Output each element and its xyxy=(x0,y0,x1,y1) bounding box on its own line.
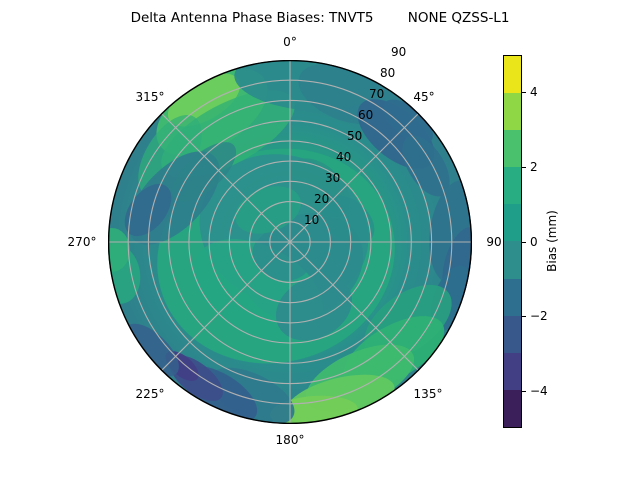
colorbar-tick-2 xyxy=(522,167,526,168)
radial-label-80: 80 xyxy=(380,66,395,80)
figure-canvas: Delta Antenna Phase Biases: TNVT5 NONE Q… xyxy=(0,0,640,480)
polar-skyplot-axes[interactable]: 0° 45° 90 135° 180° 225° 270° 315° 10 20… xyxy=(108,60,472,424)
radial-label-60: 60 xyxy=(358,108,373,122)
radial-label-20: 20 xyxy=(314,192,329,206)
polar-contour-plot xyxy=(108,60,472,424)
azimuth-label-45: 45° xyxy=(413,90,434,104)
radial-label-30: 30 xyxy=(325,171,340,185)
colorbar-tick-neg4 xyxy=(522,391,526,392)
colorbar-ticklabel-4: 4 xyxy=(530,85,538,99)
colorbar-axis-label: Bias (mm) xyxy=(545,210,559,272)
colorbar-ticklabel-0: 0 xyxy=(530,235,538,249)
radial-label-10: 10 xyxy=(304,213,319,227)
radial-label-40: 40 xyxy=(336,150,351,164)
colorbar-tick-4 xyxy=(522,92,526,93)
polar-grid xyxy=(108,60,472,424)
colorbar-tick-neg2 xyxy=(522,316,526,317)
azimuth-label-135: 135° xyxy=(414,387,443,401)
azimuth-label-180: 180° xyxy=(276,433,305,447)
azimuth-label-90: 90 xyxy=(486,235,501,249)
azimuth-label-270: 270° xyxy=(68,235,97,249)
radial-label-90: 90 xyxy=(391,45,406,59)
radial-label-50: 50 xyxy=(347,129,362,143)
colorbar-ticklabel-neg4: −4 xyxy=(530,384,548,398)
colorbar-ticklabel-2: 2 xyxy=(530,160,538,174)
colorbar-ticklabel-neg2: −2 xyxy=(530,309,548,323)
azimuth-label-0: 0° xyxy=(283,35,297,49)
azimuth-label-225: 225° xyxy=(136,387,165,401)
radial-label-70: 70 xyxy=(369,87,384,101)
colorbar-tick-0 xyxy=(522,242,526,243)
page-title: Delta Antenna Phase Biases: TNVT5 NONE Q… xyxy=(0,10,640,26)
azimuth-label-315: 315° xyxy=(136,90,165,104)
